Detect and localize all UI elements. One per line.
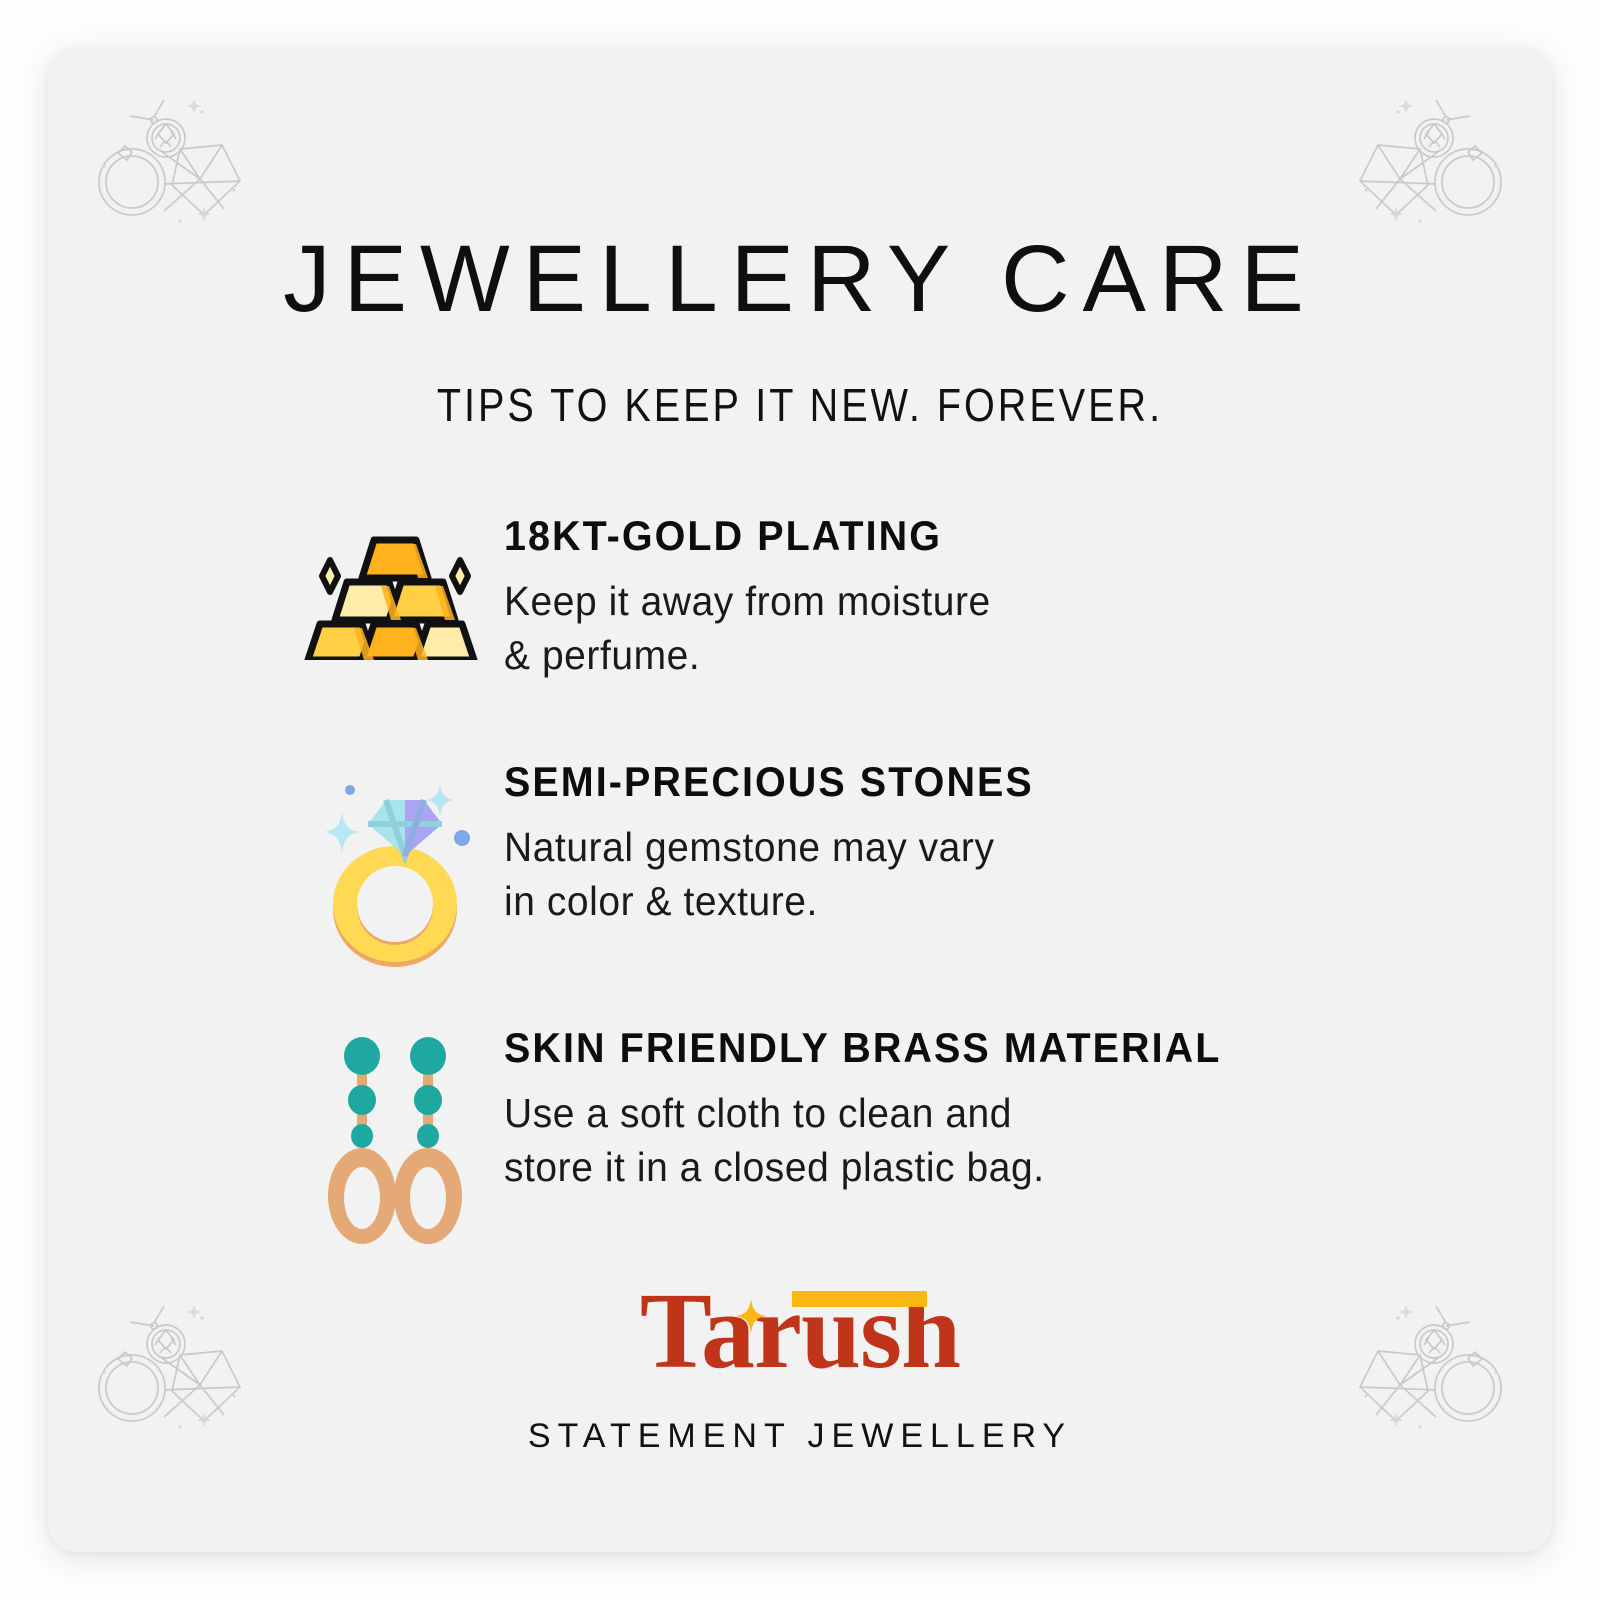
brand-footer: Tarush STATEMENT JEWELLERY [48,1273,1552,1456]
gold-bars-icon [300,510,490,660]
brand-logo-text: Tarush [640,1272,960,1391]
tip-description-line2: store it in a closed plastic bag. [504,1140,1359,1194]
tips-list: 18KT-GOLD PLATING Keep it away from mois… [48,510,1552,1293]
sparkle-icon [736,1299,766,1333]
tip-description-line1: Use a soft cloth to clean and [504,1086,1359,1140]
diamond-ring-icon [300,756,490,976]
tip-description-line2: & perfume. [504,628,1359,682]
tip-content: 18KT-GOLD PLATING Keep it away from mois… [490,510,1552,682]
logo-accent-bar [792,1291,927,1307]
tip-heading: SKIN FRIENDLY BRASS MATERIAL [504,1024,1489,1072]
tip-description-line2: in color & texture. [504,874,1359,928]
page-title: JEWELLERY CARE [48,230,1552,330]
tip-item-gold-plating: 18KT-GOLD PLATING Keep it away from mois… [48,510,1552,710]
tip-description-line1: Keep it away from moisture [504,574,1359,628]
tip-content: SEMI-PRECIOUS STONES Natural gemstone ma… [490,756,1552,928]
infographic-page: JEWELLERY CARE TIPS TO KEEP IT NEW. FORE… [0,0,1600,1600]
tip-description: Keep it away from moisture & perfume. [504,574,1359,682]
tip-item-semi-precious-stones: SEMI-PRECIOUS STONES Natural gemstone ma… [48,756,1552,976]
tip-description: Use a soft cloth to clean and store it i… [504,1086,1359,1194]
tip-heading: SEMI-PRECIOUS STONES [504,758,1489,806]
care-card: JEWELLERY CARE TIPS TO KEEP IT NEW. FORE… [48,48,1552,1552]
tip-description: Natural gemstone may vary in color & tex… [504,820,1359,928]
corner-watermark-top-left [84,86,284,236]
tip-item-brass-material: SKIN FRIENDLY BRASS MATERIAL Use a soft … [48,1022,1552,1247]
tip-heading: 18KT-GOLD PLATING [504,512,1489,560]
tip-content: SKIN FRIENDLY BRASS MATERIAL Use a soft … [490,1022,1552,1194]
page-subtitle: TIPS TO KEEP IT NEW. FOREVER. [153,378,1446,432]
corner-watermark-top-right [1316,86,1516,236]
brand-tagline: STATEMENT JEWELLERY [48,1417,1552,1456]
tip-description-line1: Natural gemstone may vary [504,820,1359,874]
drop-earrings-icon [300,1022,490,1247]
brand-logo: Tarush [640,1273,960,1391]
